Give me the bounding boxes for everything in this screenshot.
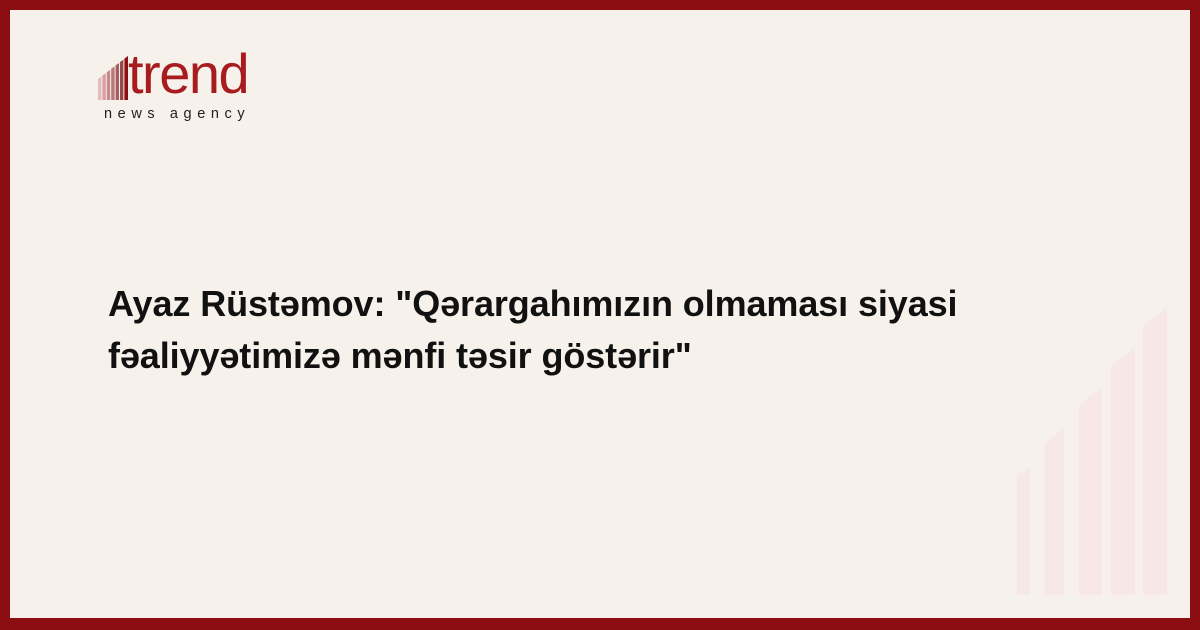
decoration-bar-5 <box>1143 307 1167 595</box>
logo-tagline: news agency <box>104 106 358 122</box>
share-card: trend news agency Ayaz Rüstəmov: "Qərarg… <box>0 0 1200 630</box>
headline-text: Ayaz Rüstəmov: "Qərargahımızın olmaması … <box>108 278 1008 382</box>
decoration-bar-3 <box>1079 387 1102 595</box>
ascending-bars-decoration <box>1017 155 1167 595</box>
card-content-area: trend news agency Ayaz Rüstəmov: "Qərarg… <box>10 10 1190 618</box>
trend-logo[interactable]: trend news agency <box>98 48 358 122</box>
logo-wordmark: trend <box>128 48 248 100</box>
decoration-bar-1 <box>1017 467 1030 595</box>
decoration-bar-4 <box>1111 347 1135 595</box>
decoration-bar-2 <box>1045 428 1064 595</box>
trend-bars-logo-icon <box>98 48 128 100</box>
logo-lockup: trend <box>98 48 358 100</box>
